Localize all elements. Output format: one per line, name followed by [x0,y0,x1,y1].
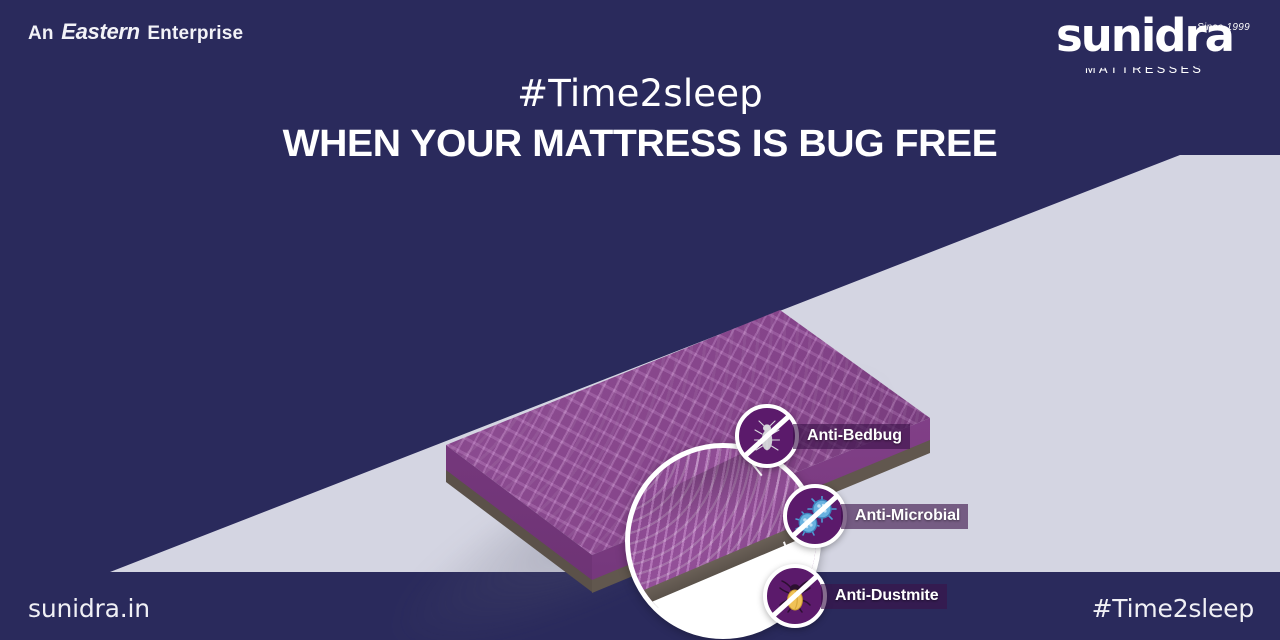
feature-label-anti-dustmite: Anti-Dustmite [821,584,947,609]
headline-group: #Time2sleep WHEN YOUR MATTRESS IS BUG FR… [0,72,1280,166]
footer-hashtag: #Time2sleep [1092,594,1254,623]
feature-badge-anti-microbial[interactable]: Anti-Microbial [783,484,968,548]
badge-circle-dustmite [763,564,827,628]
corporate-tagline-prefix: An [28,23,54,44]
logo-wordmark: sunidra [1037,12,1252,60]
sunidra-logo: sunidra Since 1999 MATTRESSES [1037,12,1252,76]
badge-circle-bedbug [735,404,799,468]
feature-badge-anti-bedbug[interactable]: Anti-Bedbug [735,404,910,468]
poster-canvas: An Eastern Enterprise sunidra Since 1999… [0,0,1280,640]
headline-hashtag: #Time2sleep [0,72,1280,115]
corporate-tagline: An Eastern Enterprise [28,19,243,45]
feature-badge-anti-dustmite[interactable]: Anti-Dustmite [763,564,947,628]
footer-website[interactable]: sunidra.in [28,594,150,623]
feature-label-anti-bedbug: Anti-Bedbug [793,424,910,449]
logo-since-badge: Since 1999 [1197,22,1250,33]
feature-label-anti-microbial: Anti-Microbial [841,504,968,529]
badge-circle-microbial [783,484,847,548]
headline-main: WHEN YOUR MATTRESS IS BUG FREE [0,123,1280,166]
eastern-brand-word: Eastern [59,19,142,44]
corporate-tagline-suffix: Enterprise [147,23,243,44]
